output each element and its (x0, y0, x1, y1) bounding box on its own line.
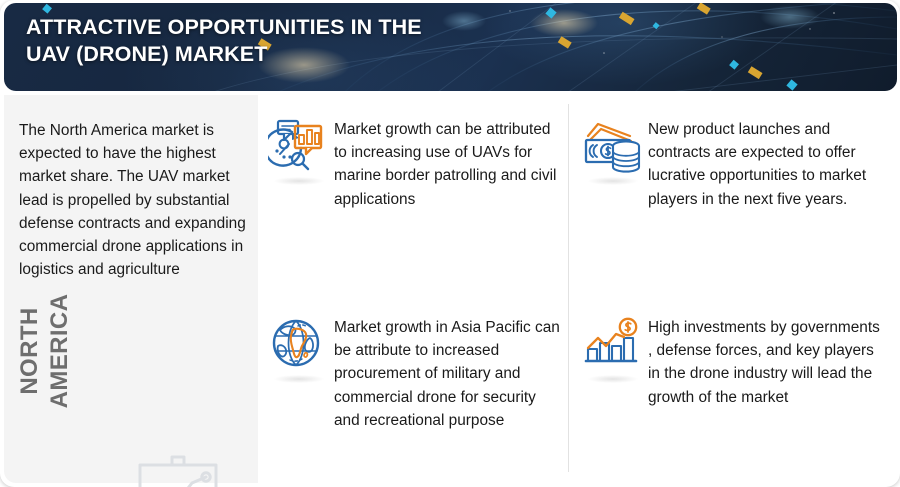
insight-text: Market growth in Asia Pacific can be att… (334, 316, 560, 432)
page-title: ATTRACTIVE OPPORTUNITIES IN THE UAV (DRO… (26, 14, 646, 68)
icon-shadow (588, 177, 638, 185)
money-cash-coins-icon (582, 118, 644, 182)
insight-text: High investments by governments , defens… (648, 316, 886, 409)
market-analytics-percent-icon (268, 118, 330, 182)
icon-shadow (588, 375, 638, 383)
insight-text: New product launches and contracts are e… (648, 118, 886, 211)
left-region-panel: The North America market is expected to … (4, 95, 258, 483)
insight-text: Market growth can be attributed to incre… (334, 118, 560, 211)
column-divider (568, 104, 569, 472)
globe-world-icon (268, 316, 330, 380)
icon-shadow (274, 177, 324, 185)
insight-item-asia-pacific-growth: Market growth in Asia Pacific can be att… (268, 316, 560, 432)
header-banner: ATTRACTIVE OPPORTUNITIES IN THE UAV (DRO… (4, 3, 897, 91)
insight-item-market-growth-marine-border: Market growth can be attributed to incre… (268, 118, 560, 211)
region-name-label: NORTH AMERICA (15, 266, 75, 436)
presentation-chart-analysis-icon (122, 447, 234, 487)
insight-item-high-investments: High investments by governments , defens… (582, 316, 892, 409)
infographic-card: ATTRACTIVE OPPORTUNITIES IN THE UAV (DRO… (0, 0, 900, 487)
insight-item-new-product-launches: New product launches and contracts are e… (582, 118, 892, 211)
growth-bar-chart-dollar-icon (582, 316, 644, 380)
region-description: The North America market is expected to … (19, 119, 247, 281)
icon-shadow (274, 375, 324, 383)
